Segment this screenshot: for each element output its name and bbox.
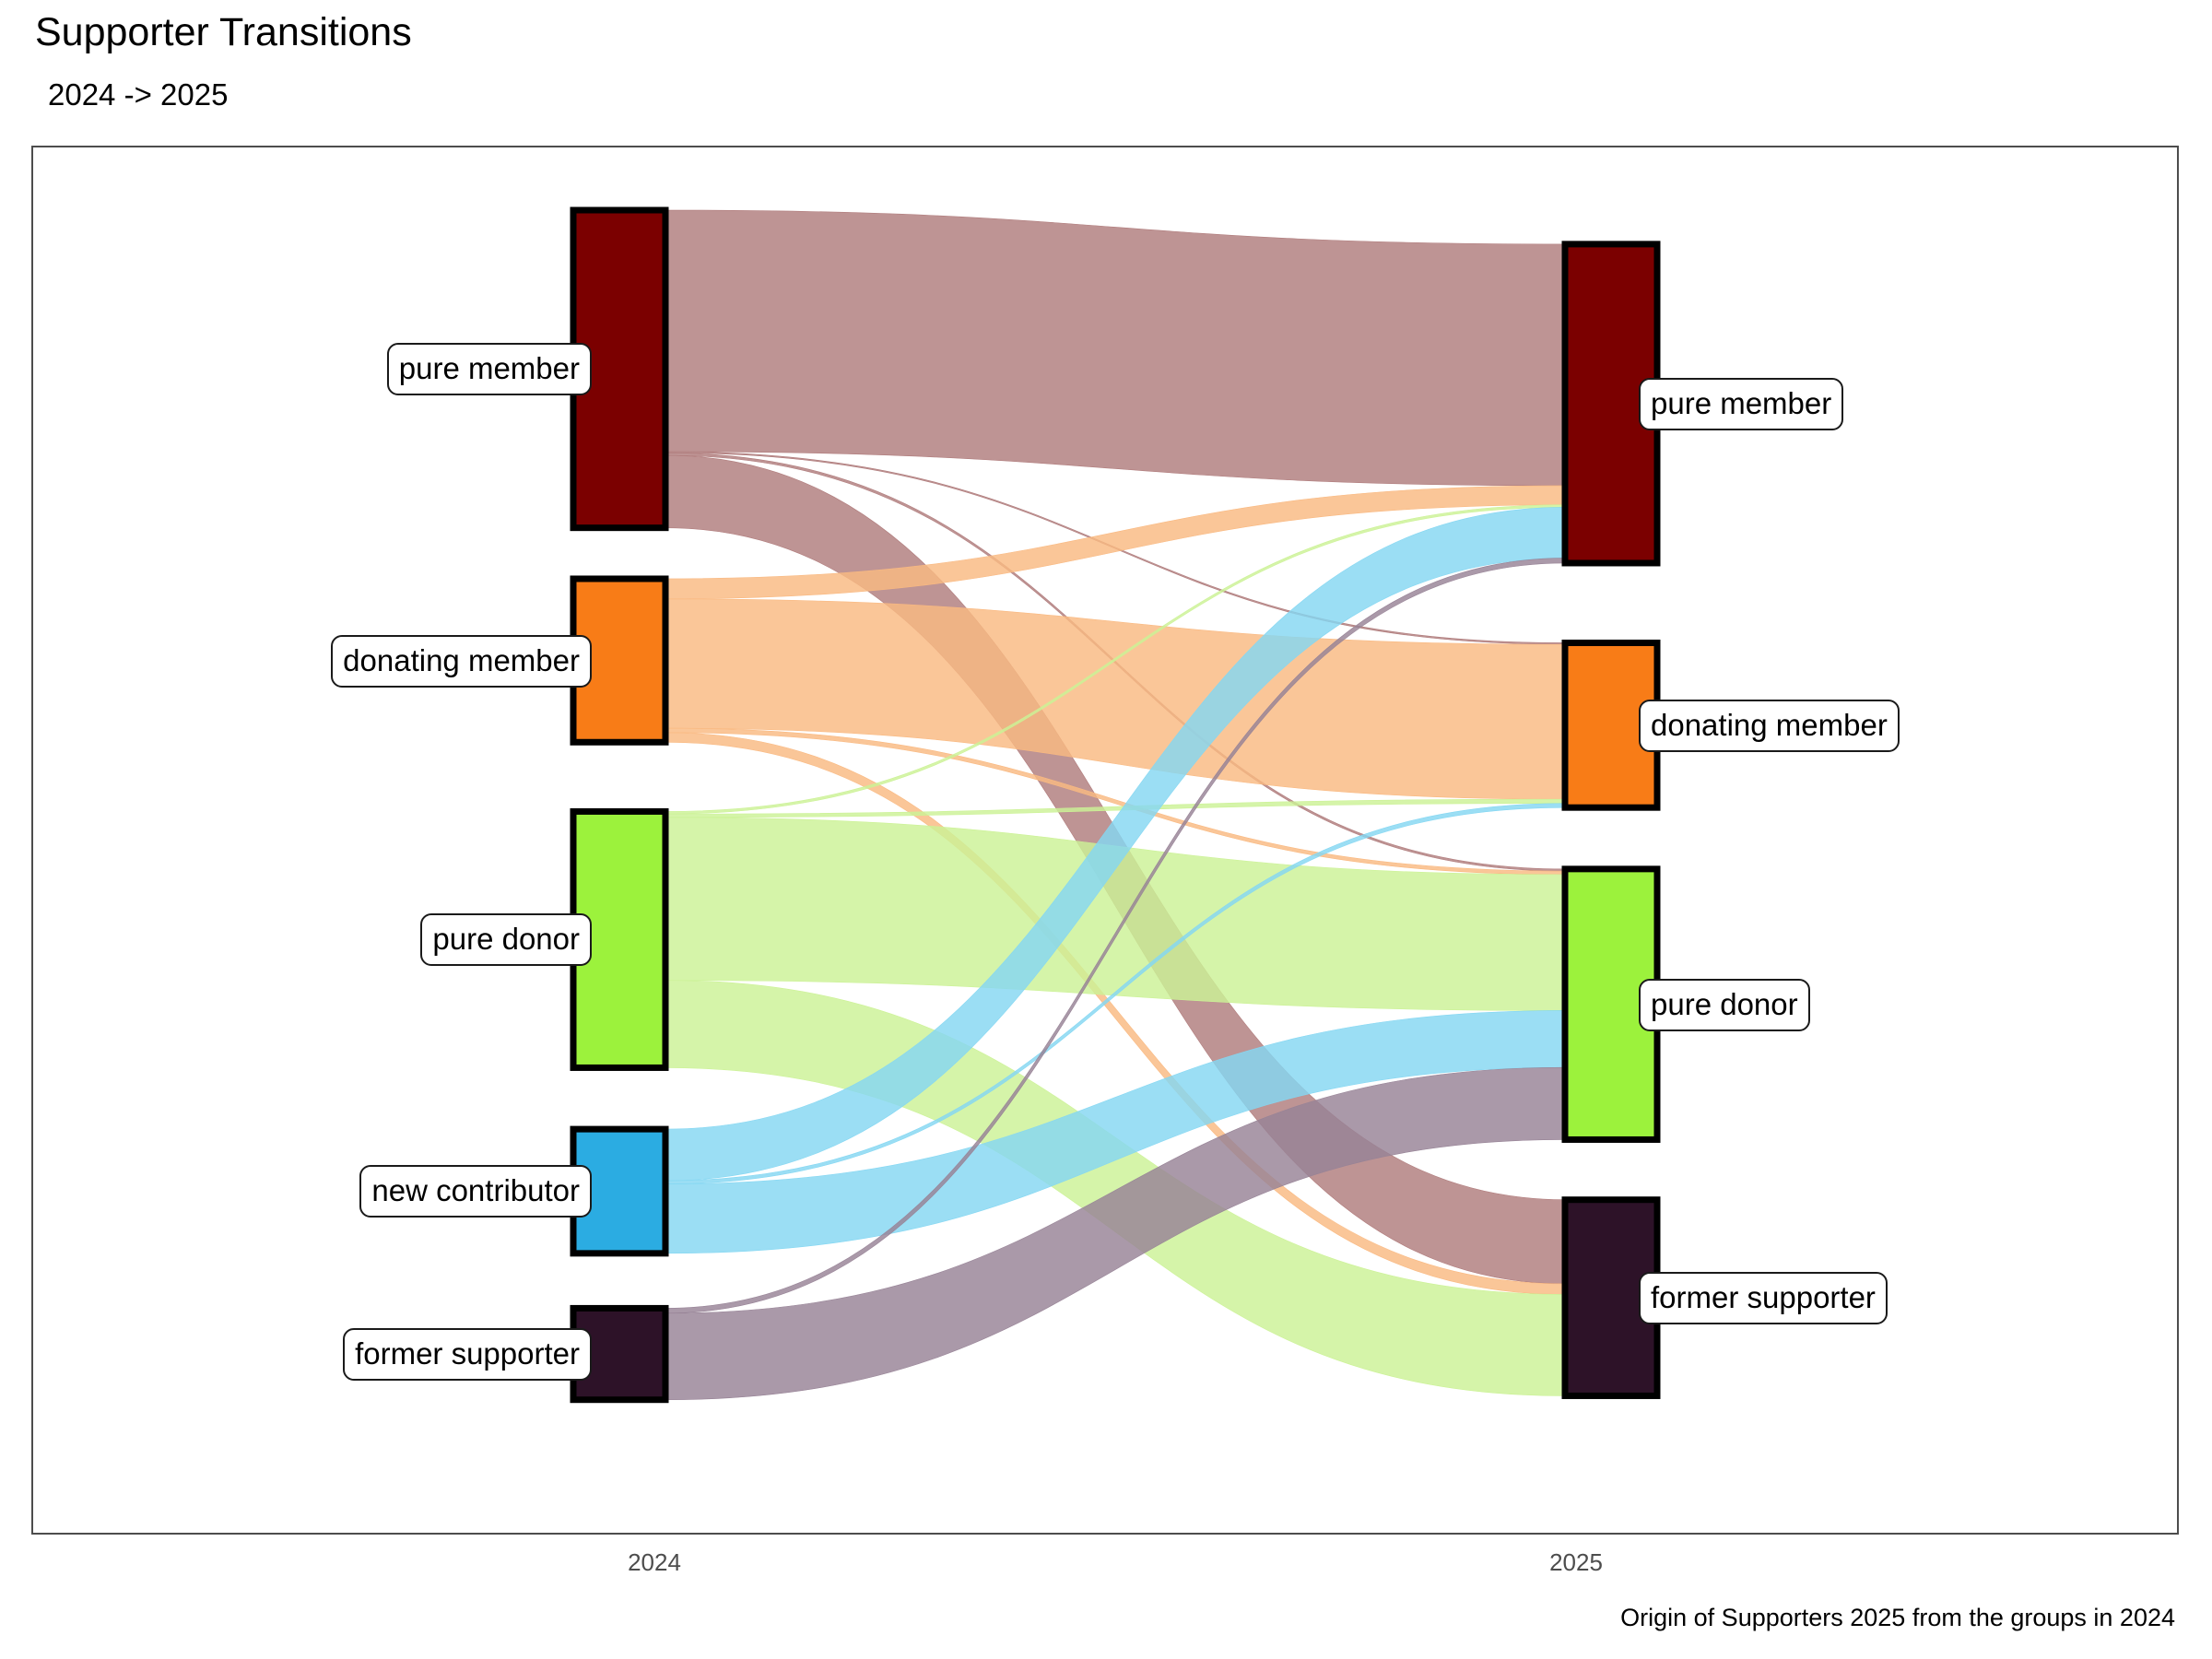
page-title: Supporter Transitions — [35, 13, 412, 53]
node-label-right-pure-member[interactable]: pure member — [1639, 378, 1843, 430]
node-label-left-new-contributor[interactable]: new contributor — [359, 1165, 592, 1218]
chart-caption: Origin of Supporters 2025 from the group… — [1620, 1604, 2175, 1632]
node-label-right-donating-member[interactable]: donating member — [1639, 700, 1900, 752]
node-label-right-pure-donor[interactable]: pure donor — [1639, 979, 1810, 1031]
axis-tick-2025: 2025 — [1438, 1548, 1714, 1577]
plot-frame — [31, 146, 2179, 1535]
node-label-right-former-supporter[interactable]: former supporter — [1639, 1272, 1888, 1324]
node-label-left-former-supporter[interactable]: former supporter — [343, 1328, 592, 1381]
node-label-left-pure-donor[interactable]: pure donor — [420, 913, 592, 966]
axis-tick-2024: 2024 — [516, 1548, 793, 1577]
page-subtitle: 2024 -> 2025 — [48, 79, 228, 110]
node-label-left-donating-member[interactable]: donating member — [331, 635, 592, 688]
node-label-left-pure-member[interactable]: pure member — [387, 343, 592, 395]
